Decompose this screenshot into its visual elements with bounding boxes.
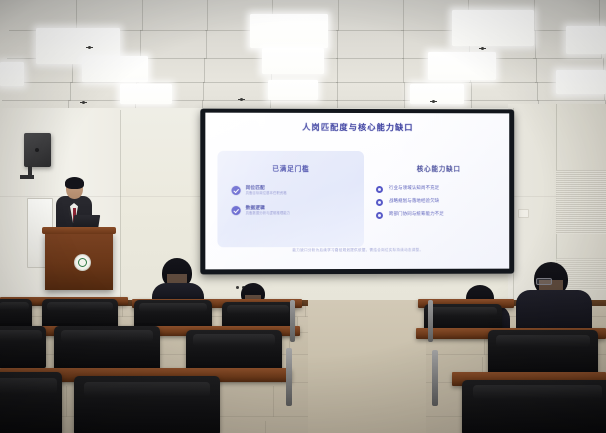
wall-mounted-speaker bbox=[24, 133, 51, 167]
projection-screen[interactable]: 人岗匹配度与核心能力缺口 已满足门槛 岗位匹配 具备目标岗位基本任职资格 数据逻… bbox=[200, 109, 514, 275]
audience-seat[interactable] bbox=[0, 299, 32, 329]
ceiling-light-panel bbox=[410, 84, 464, 104]
audience-seat[interactable] bbox=[54, 326, 160, 370]
ceiling-light-panel bbox=[0, 62, 24, 86]
list-item-title: 行业与领域认知尚不充足 bbox=[389, 185, 501, 191]
podium-top-surface bbox=[42, 227, 116, 234]
center-aisle bbox=[308, 300, 426, 433]
list-item-subtitle: 具备目标岗位基本任职资格 bbox=[246, 191, 290, 196]
screen-surface: 人岗匹配度与核心能力缺口 已满足门槛 岗位匹配 具备目标岗位基本任职资格 数据逻… bbox=[205, 113, 509, 270]
speaker-bracket bbox=[28, 166, 32, 179]
ceiling-tile bbox=[203, 82, 271, 101]
wall-socket bbox=[518, 209, 529, 218]
audience-seat[interactable] bbox=[74, 376, 220, 433]
ceiling-tile bbox=[138, 30, 206, 59]
list-item: 行业与领域认知尚不充足 bbox=[376, 185, 501, 191]
ceiling-light-panel bbox=[120, 84, 172, 104]
left-panel-heading: 已满足门槛 bbox=[217, 163, 364, 173]
check-circle-icon bbox=[232, 206, 241, 215]
ceiling-tile bbox=[140, 0, 208, 31]
seat-post bbox=[286, 348, 292, 406]
ceiling-light-panel bbox=[556, 70, 606, 94]
seat-post bbox=[428, 300, 433, 342]
list-item: 跨部门协同与统筹能力不足 bbox=[376, 211, 501, 217]
list-item-title: 跨部门协同与统筹能力不足 bbox=[389, 211, 501, 217]
suspended-tile-ceiling bbox=[0, 0, 606, 112]
ceiling-tile bbox=[336, 58, 404, 83]
conference-room-photo: 人岗匹配度与核心能力缺口 已满足门槛 岗位匹配 具备目标岗位基本任职资格 数据逻… bbox=[0, 0, 606, 433]
right-bullet-list: 行业与领域认知尚不充足 战略规划与落地经验欠缺 跨部门协同与统筹能力不足 bbox=[376, 185, 501, 224]
ceiling-light-panel bbox=[452, 10, 534, 46]
sprinkler-icon bbox=[240, 98, 243, 101]
sprinkler-icon bbox=[88, 46, 91, 49]
ceiling-tile bbox=[74, 0, 142, 31]
target-circle-icon bbox=[376, 199, 383, 206]
ceiling-tile bbox=[470, 82, 538, 101]
ceiling-tile bbox=[336, 82, 404, 101]
left-bullet-list: 岗位匹配 具备目标岗位基本任职资格 数据逻辑 具备数据分析与逻辑推理能力 bbox=[232, 185, 291, 225]
ceiling-light-panel bbox=[428, 52, 496, 80]
satisfied-threshold-card: 已满足门槛 岗位匹配 具备目标岗位基本任职资格 数据逻辑 具备数据分析与逻辑推理… bbox=[217, 151, 364, 247]
list-item-subtitle: 具备数据分析与逻辑推理能力 bbox=[246, 211, 290, 216]
seat-post bbox=[290, 300, 295, 342]
ceiling-light-panel bbox=[82, 56, 148, 82]
wall-vent bbox=[556, 170, 606, 234]
slide-title: 人岗匹配度与核心能力缺口 bbox=[205, 121, 509, 134]
target-circle-icon bbox=[376, 212, 383, 219]
list-item-title: 战略规划与落地经验欠缺 bbox=[389, 198, 501, 204]
slide-footer-note: 能力缺口分析为后续学习路径规划提供依据，需结合岗位实际持续动态调整。 bbox=[205, 248, 509, 254]
sprinkler-icon bbox=[481, 47, 484, 50]
wall-seam bbox=[120, 110, 121, 306]
wooden-podium bbox=[45, 232, 113, 290]
presentation-slide: 人岗匹配度与核心能力缺口 已满足门槛 岗位匹配 具备目标岗位基本任职资格 数据逻… bbox=[205, 113, 509, 270]
podium-emblem-icon bbox=[74, 254, 91, 271]
wall-outlet-icon bbox=[236, 286, 239, 289]
target-circle-icon bbox=[376, 186, 383, 193]
seat-post bbox=[432, 350, 438, 406]
ceiling-tile bbox=[9, 0, 77, 31]
ceiling-tile bbox=[336, 30, 404, 59]
ceiling-light-panel bbox=[268, 80, 318, 100]
check-circle-icon bbox=[232, 186, 241, 195]
sprinkler-icon bbox=[432, 100, 435, 103]
ceiling-tile bbox=[336, 0, 404, 31]
audience-seat[interactable] bbox=[0, 372, 62, 433]
right-panel-heading: 核心能力缺口 bbox=[376, 163, 501, 173]
list-item: 战略规划与落地经验欠缺 bbox=[376, 198, 501, 204]
ceiling-light-panel bbox=[250, 14, 328, 48]
list-item: 岗位匹配 具备目标岗位基本任职资格 bbox=[232, 185, 291, 196]
eyeglasses-icon bbox=[536, 278, 552, 285]
list-item: 数据逻辑 具备数据分析与逻辑推理能力 bbox=[232, 205, 291, 216]
sprinkler-icon bbox=[82, 101, 85, 104]
audience-seat[interactable] bbox=[488, 330, 598, 376]
audience-seat[interactable] bbox=[462, 380, 606, 433]
ceiling-light-panel bbox=[566, 26, 606, 54]
ceiling-light-panel bbox=[262, 48, 324, 74]
capability-gap-panel: 核心能力缺口 行业与领域认知尚不充足 战略规划与落地经验欠缺 跨部门协同与 bbox=[376, 151, 501, 247]
presenter-hair bbox=[65, 177, 84, 189]
audience-seat[interactable] bbox=[0, 326, 46, 368]
